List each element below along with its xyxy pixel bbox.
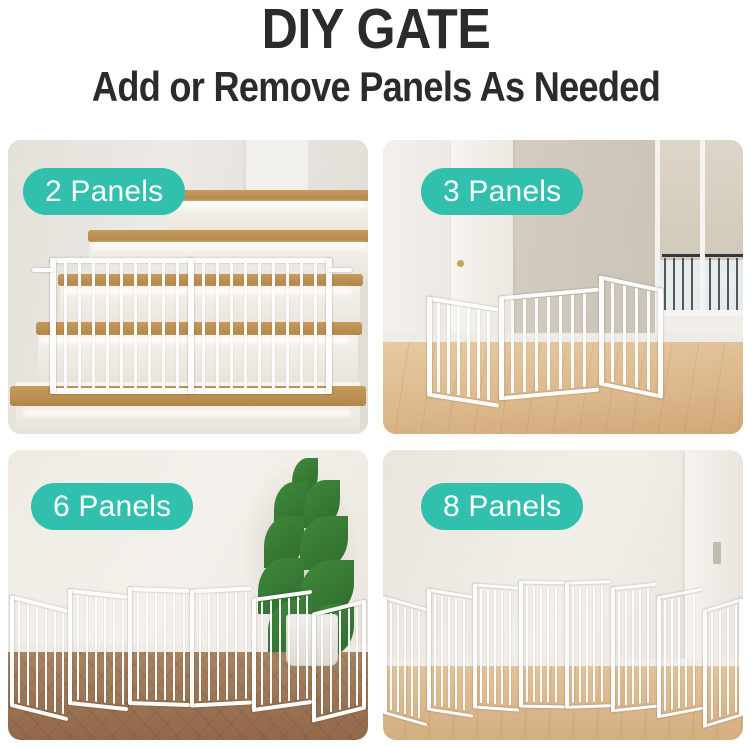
- door-handle-icon: [713, 542, 721, 564]
- gate-post: [427, 296, 432, 397]
- safety-gate-8-panel: [383, 580, 743, 728]
- gate-post: [499, 296, 504, 400]
- gate-post-right: [326, 258, 332, 394]
- gate-top-rail: [703, 598, 743, 613]
- gate-post: [312, 612, 316, 723]
- gate-post: [703, 609, 707, 728]
- gate-panel-4: [190, 586, 252, 707]
- photo-cell-3-panels: 3 Panels: [383, 140, 743, 434]
- gate-post: [565, 582, 569, 709]
- gate-bottom-rail: [427, 707, 473, 717]
- gate-bottom-rail: [565, 704, 611, 709]
- gate-panel-3: [128, 587, 190, 707]
- gate-post: [427, 588, 431, 711]
- gate-panel-5: [565, 580, 611, 709]
- gate-panel-7: [657, 588, 703, 719]
- gate-post-end: [658, 288, 663, 399]
- panel-count-badge: 2 Panels: [23, 168, 185, 215]
- gate-top-rail: [565, 580, 611, 585]
- gate-top-rail: [190, 586, 252, 593]
- photo-cell-8-panels: 8 Panels: [383, 450, 743, 740]
- gate-bottom-rail: [519, 705, 565, 709]
- gate-panel-8: [703, 598, 743, 728]
- door-knob-icon: [457, 260, 464, 267]
- photo-cell-2-panels: 2 Panels: [8, 140, 368, 434]
- stair-glow: [168, 202, 366, 208]
- gate-top-rail: [657, 588, 703, 600]
- gate-bottom-rail: [128, 701, 190, 707]
- gate-panel-5: [252, 590, 312, 712]
- gate-post: [190, 589, 194, 707]
- stair-tread: [88, 230, 368, 242]
- photo-cell-6-panels: 6 Panels: [8, 450, 368, 740]
- gate-top-rail: [519, 581, 565, 585]
- photo-grid: 2 Panels: [0, 0, 752, 747]
- gate-panel-left: [427, 296, 499, 407]
- gate-post: [252, 598, 256, 713]
- gate-post-end: [362, 599, 366, 710]
- gate-panel-2: [427, 588, 473, 717]
- gate-bottom-rail: [190, 700, 252, 707]
- gate-panel-2: [68, 589, 128, 711]
- gate-post-end: [739, 598, 743, 717]
- gate-post: [519, 581, 523, 708]
- gate-panel-3: [473, 583, 519, 711]
- gate-post: [473, 583, 477, 708]
- gate-post: [68, 589, 72, 705]
- gate-panel-4: [519, 581, 565, 709]
- stair-tread: [166, 190, 368, 201]
- safety-gate-6-panel: [8, 588, 368, 728]
- gate-extension-right: [328, 268, 352, 272]
- gate-bottom-rail: [10, 703, 68, 721]
- gate-bottom-rail: [68, 701, 128, 711]
- safety-gate-3-panel: [427, 290, 663, 402]
- panel-count-badge: 6 Panels: [31, 483, 193, 530]
- gate-bottom-rail: [703, 713, 743, 728]
- gate-post: [10, 595, 14, 708]
- gate-post: [657, 596, 661, 719]
- gate-top-rail: [611, 583, 657, 591]
- gate-bottom-rail: [473, 705, 519, 711]
- stair-glow: [94, 243, 366, 249]
- gate-post-mid: [188, 258, 194, 394]
- gate-post: [383, 596, 387, 715]
- gate-post: [599, 275, 604, 386]
- gate-panel-6: [611, 583, 657, 713]
- gate-panel-1: [10, 595, 68, 721]
- gate-bottom-rail: [599, 381, 663, 399]
- gate-post-left: [50, 258, 56, 394]
- infographic-page: DIY GATE Add or Remove Panels As Needed: [0, 0, 752, 747]
- safety-gate-2-panel: [50, 258, 332, 394]
- gate-bottom-rail: [611, 705, 657, 713]
- gate-post: [611, 587, 615, 712]
- gate-post: [128, 587, 132, 705]
- stair-glow: [24, 410, 350, 416]
- gate-top-rail: [252, 590, 312, 602]
- gate-panel-right: [599, 275, 663, 399]
- gate-extension-left: [32, 268, 54, 272]
- panel-count-badge: 8 Panels: [421, 483, 583, 530]
- panel-count-badge: 3 Panels: [421, 168, 583, 215]
- gate-panel-1: [383, 596, 427, 727]
- gate-panel-6: [312, 599, 366, 722]
- gate-panel-middle: [499, 288, 599, 401]
